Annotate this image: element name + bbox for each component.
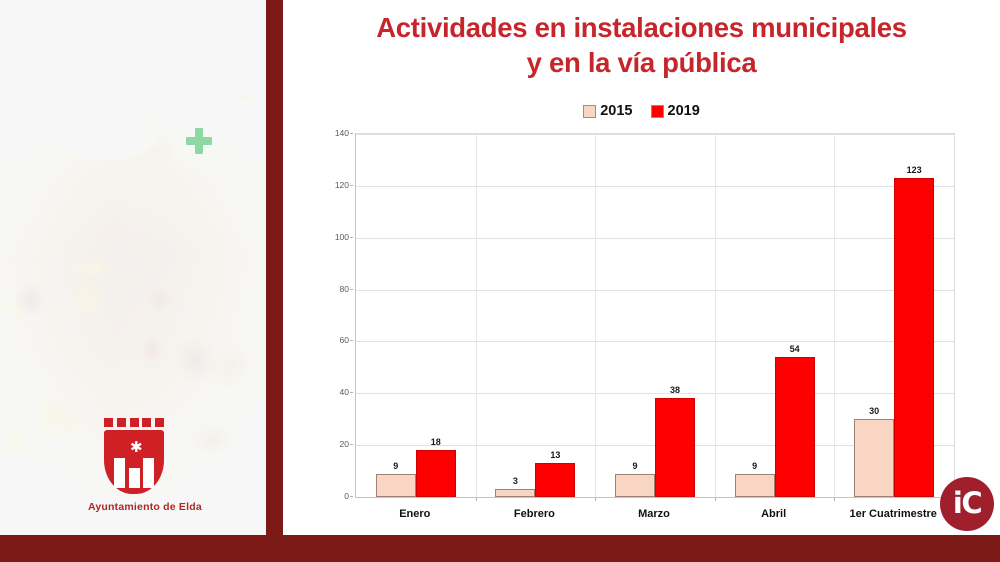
y-axis-tick-80: 80: [340, 284, 349, 294]
y-axis-tick-100: 100: [335, 232, 349, 242]
bar-value-label: 9: [752, 461, 757, 471]
slide-root: ✱ Ayuntamiento de Elda Actividades en in…: [0, 0, 1000, 562]
bar-2015-abril[interactable]: [735, 474, 775, 497]
x-axis-label-1er-cuatrimestre: 1er Cuatrimestre: [849, 508, 936, 520]
bar-2019-marzo[interactable]: [655, 398, 695, 497]
vertical-accent-band: [266, 0, 283, 535]
legend-label-2019: 2019: [668, 103, 700, 119]
x-axis: EneroFebreroMarzoAbril1er Cuatrimestre: [355, 502, 955, 528]
x-axis-tick: [715, 497, 716, 501]
category-separator: [715, 134, 716, 497]
bar-value-label: 9: [632, 461, 637, 471]
x-axis-label-abril: Abril: [761, 508, 786, 520]
chart-title: Actividades en instalaciones municipales…: [293, 10, 990, 80]
gridline-60: [356, 341, 954, 342]
town-hall-logo: ✱ Ayuntamiento de Elda: [88, 418, 180, 513]
gridline-100: [356, 238, 954, 239]
x-axis-tick: [595, 497, 596, 501]
gridline-80: [356, 290, 954, 291]
y-axis-tick-40: 40: [340, 387, 349, 397]
chart-title-line-2: y en la vía pública: [293, 45, 990, 80]
bar-2019-abril[interactable]: [775, 357, 815, 497]
category-separator: [834, 134, 835, 497]
bar-2019-febrero[interactable]: [535, 463, 575, 497]
chart-legend: 20152019: [283, 103, 1000, 119]
plot-area: 91831393895430123: [355, 133, 955, 498]
bar-2019-1er-cuatrimestre[interactable]: [894, 178, 934, 497]
legend-swatch-2015: [583, 105, 596, 118]
gridline-40: [356, 393, 954, 394]
bar-2019-enero[interactable]: [416, 450, 456, 497]
bar-value-label: 38: [670, 385, 680, 395]
gridline-120: [356, 186, 954, 187]
legend-item-2015: 2015: [583, 103, 632, 119]
bar-2015-febrero[interactable]: [495, 489, 535, 497]
bottom-accent-band: [0, 535, 1000, 562]
brand-badge-icon: iC: [940, 477, 994, 531]
y-axis-tick-0: 0: [344, 491, 349, 501]
crest-towers: [114, 458, 154, 488]
bar-value-label: 9: [393, 461, 398, 471]
bar-value-label: 13: [550, 450, 560, 460]
bar-value-label: 3: [513, 476, 518, 486]
y-axis: 020406080100120140: [321, 133, 353, 505]
category-separator: [595, 134, 596, 497]
legend-label-2015: 2015: [600, 103, 632, 119]
bar-2015-enero[interactable]: [376, 474, 416, 497]
chart-plot-wrapper: 020406080100120140 91831393895430123 Ene…: [321, 133, 997, 528]
bar-2015-marzo[interactable]: [615, 474, 655, 497]
y-axis-tick-20: 20: [340, 439, 349, 449]
x-axis-tick: [476, 497, 477, 501]
pharmacy-cross-icon: [186, 128, 212, 154]
y-axis-tick-60: 60: [340, 335, 349, 345]
bar-value-label: 30: [869, 406, 879, 416]
legend-swatch-2019: [651, 105, 664, 118]
legend-item-2019: 2019: [651, 103, 700, 119]
x-axis-tick: [834, 497, 835, 501]
category-separator: [476, 134, 477, 497]
crest-shield: ✱: [104, 430, 164, 494]
x-axis-label-enero: Enero: [399, 508, 430, 520]
chart-title-line-1: Actividades en instalaciones municipales: [293, 10, 990, 45]
y-axis-tick-140: 140: [335, 128, 349, 138]
decorative-photo-panel: ✱ Ayuntamiento de Elda: [0, 0, 266, 535]
crest-star-icon: ✱: [130, 440, 143, 455]
bar-value-label: 54: [790, 344, 800, 354]
bar-value-label: 123: [907, 165, 922, 175]
bar-value-label: 18: [431, 437, 441, 447]
y-axis-tick-120: 120: [335, 180, 349, 190]
crest-merlons: [104, 418, 164, 427]
chart-panel: Actividades en instalaciones municipales…: [283, 0, 1000, 535]
town-hall-logo-caption: Ayuntamiento de Elda: [88, 501, 180, 513]
bar-2015-1er-cuatrimestre[interactable]: [854, 419, 894, 497]
gridline-140: [356, 134, 954, 135]
brand-badge-text: iC: [953, 489, 981, 520]
x-axis-label-marzo: Marzo: [638, 508, 670, 520]
x-axis-label-febrero: Febrero: [514, 508, 555, 520]
elda-coat-of-arms-icon: ✱: [102, 418, 166, 496]
